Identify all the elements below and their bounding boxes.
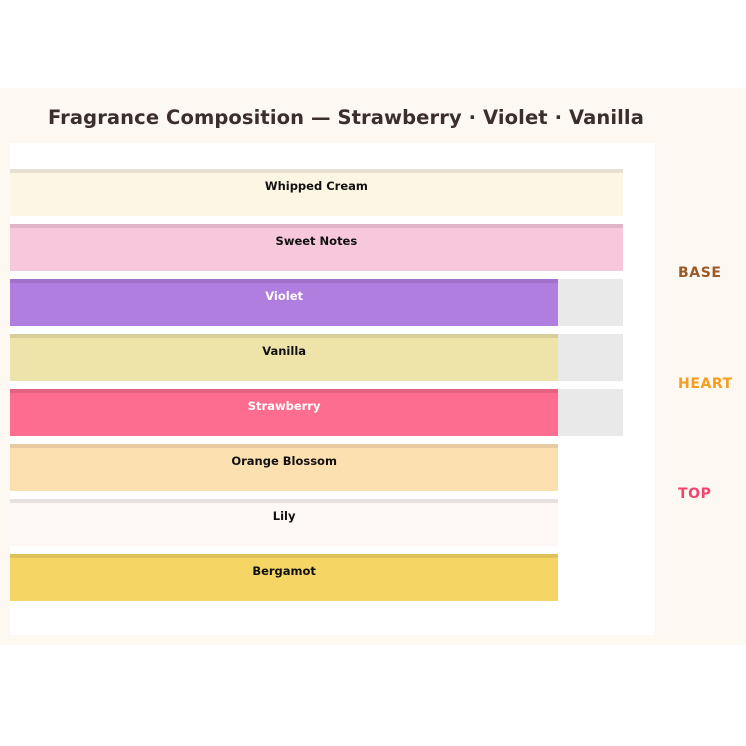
bar-label: Vanilla — [10, 328, 558, 375]
bar-label: Strawberry — [10, 383, 558, 430]
bar-row: Whipped Cream — [10, 163, 655, 218]
chart-title: Fragrance Composition — Strawberry · Vio… — [48, 106, 648, 129]
bar-row: Violet — [10, 273, 655, 328]
bar-row: Orange Blossom — [10, 438, 655, 493]
bar-label: Violet — [10, 273, 558, 320]
bar-row: Sweet Notes — [10, 218, 655, 273]
plot-area: Whipped CreamSweet NotesVioletVanillaStr… — [10, 143, 655, 635]
bar-label: Sweet Notes — [10, 218, 623, 265]
stage-label-top: TOP — [678, 486, 712, 502]
bar-row: Lily — [10, 493, 655, 548]
stage-label-heart: HEART — [678, 376, 733, 392]
bar-row: Strawberry — [10, 383, 655, 438]
bar-row: Bergamot — [10, 548, 655, 603]
bar-label: Bergamot — [10, 548, 558, 595]
bar-row: Vanilla — [10, 328, 655, 383]
bar-label: Orange Blossom — [10, 438, 558, 485]
bar-label: Whipped Cream — [10, 163, 623, 210]
fragrance-composition-chart: Fragrance Composition — Strawberry · Vio… — [0, 0, 746, 746]
stage-label-base: BASE — [678, 265, 722, 281]
bar-rows: Whipped CreamSweet NotesVioletVanillaStr… — [10, 163, 655, 613]
bar-label: Lily — [10, 493, 558, 540]
